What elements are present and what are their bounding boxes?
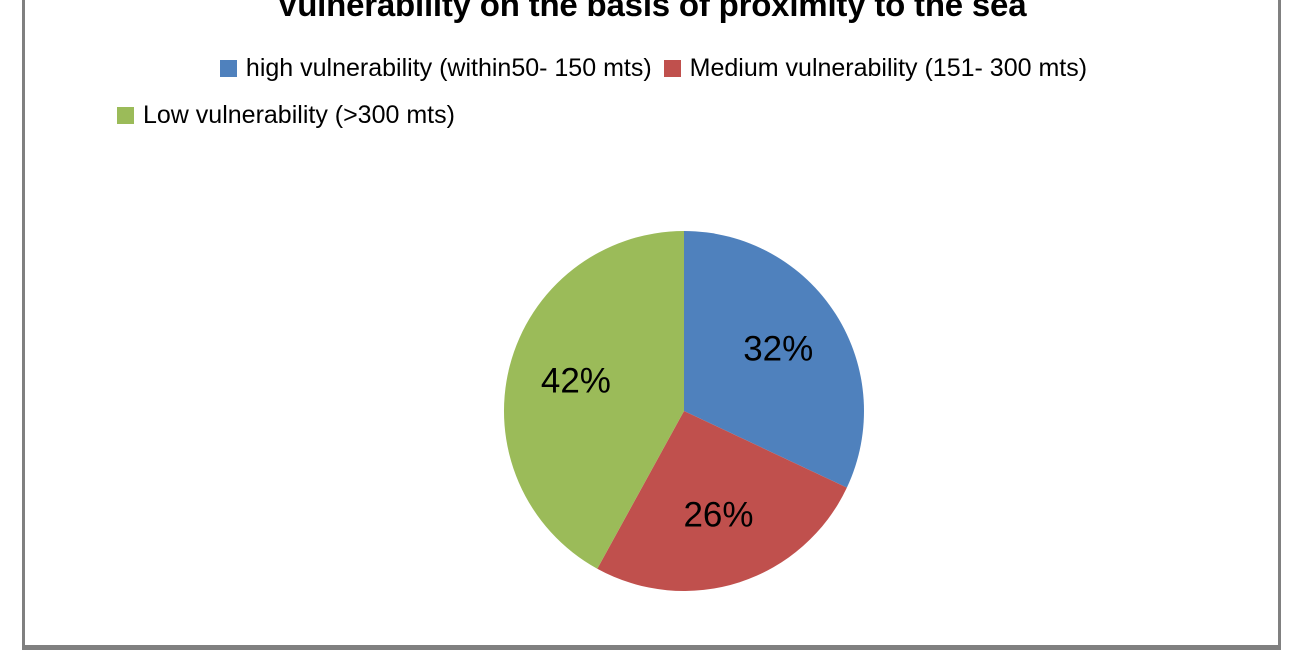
legend-row-1: high vulnerability (within50- 150 mts) M… <box>25 56 1278 81</box>
page-title: Vulnerability on the basis of proximity … <box>25 0 1278 24</box>
pie-slice-label: 26% <box>683 495 753 534</box>
legend-swatch-high-icon <box>220 60 237 77</box>
legend-swatch-low-icon <box>117 107 134 124</box>
pie-chart-svg: 32%26%42% <box>503 230 865 592</box>
legend-row-2: Low vulnerability (>300 mts) <box>25 103 1278 128</box>
legend-item-low-vulnerability[interactable]: Low vulnerability (>300 mts) <box>117 103 455 128</box>
legend-item-medium-vulnerability[interactable]: Medium vulnerability (151- 300 mts) <box>664 56 1087 81</box>
legend-label-medium-vulnerability: Medium vulnerability (151- 300 mts) <box>690 56 1087 81</box>
pie-slice-label: 32% <box>743 329 813 368</box>
pie-slice-group <box>504 231 864 591</box>
legend-item-high-vulnerability[interactable]: high vulnerability (within50- 150 mts) <box>220 56 652 81</box>
legend-label-low-vulnerability: Low vulnerability (>300 mts) <box>143 103 455 128</box>
chart-frame: Vulnerability on the basis of proximity … <box>22 0 1281 650</box>
pie-chart: 32%26%42% <box>503 230 865 592</box>
legend-swatch-medium-icon <box>664 60 681 77</box>
pie-slice-label: 42% <box>541 362 611 401</box>
chart-legend: high vulnerability (within50- 150 mts) M… <box>25 56 1278 128</box>
legend-label-high-vulnerability: high vulnerability (within50- 150 mts) <box>246 56 652 81</box>
